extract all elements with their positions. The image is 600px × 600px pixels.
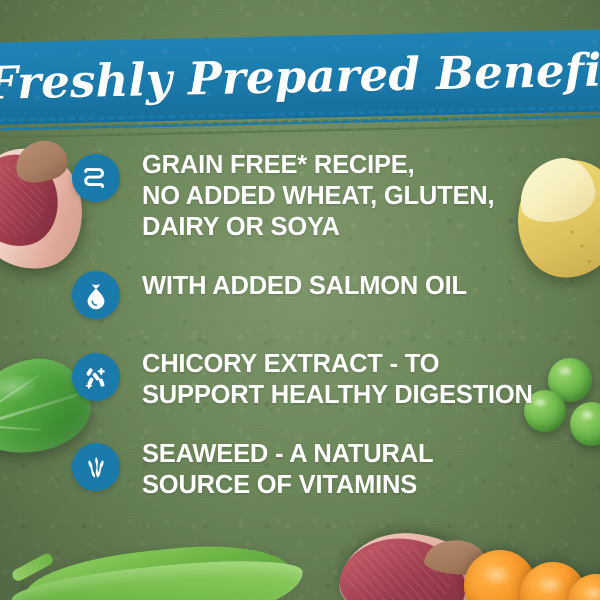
page-title: Freshly Prepared Benefits [0,33,600,121]
benefit-text: WITH ADDED SALMON OIL [142,271,467,302]
benefit-item-seaweed: SEAWEED - A NATURAL SOURCE OF VITAMINS [72,439,542,501]
benefit-line: GRAIN FREE* RECIPE, [142,150,494,181]
benefit-item-grain-free: GRAIN FREE* RECIPE, NO ADDED WHEAT, GLUT… [72,150,542,243]
benefit-item-salmon-oil: WITH ADDED SALMON OIL [72,269,542,319]
benefit-text: SEAWEED - A NATURAL SOURCE OF VITAMINS [142,439,433,501]
benefit-line: SOURCE OF VITAMINS [142,470,433,501]
carrot-slices-bottom-right [458,540,600,600]
probiotic-bacteria-icon [72,353,120,401]
benefit-line: CHICORY EXTRACT - TO [142,349,533,380]
fish-oil-droplet-icon [72,271,120,319]
seaweed-icon [72,443,120,491]
benefit-text: CHICORY EXTRACT - TO SUPPORT HEALTHY DIG… [142,349,533,411]
benefit-line: SEAWEED - A NATURAL [142,439,433,470]
benefit-line: NO ADDED WHEAT, GLUTEN, [142,181,494,212]
benefit-line: DAIRY OR SOYA [142,212,494,243]
product-benefits-poster: Freshly Prepared Benefits GRAIN FREE* RE… [0,0,600,600]
benefits-list: GRAIN FREE* RECIPE, NO ADDED WHEAT, GLUT… [72,150,542,501]
benefit-line: WITH ADDED SALMON OIL [142,271,467,302]
intestine-icon [72,154,120,202]
header-banner: Freshly Prepared Benefits [0,29,600,139]
benefit-line: SUPPORT HEALTHY DIGESTION [142,380,533,411]
pea [570,402,600,446]
benefit-text: GRAIN FREE* RECIPE, NO ADDED WHEAT, GLUT… [142,150,494,243]
benefit-item-chicory-extract: CHICORY EXTRACT - TO SUPPORT HEALTHY DIG… [72,349,542,411]
